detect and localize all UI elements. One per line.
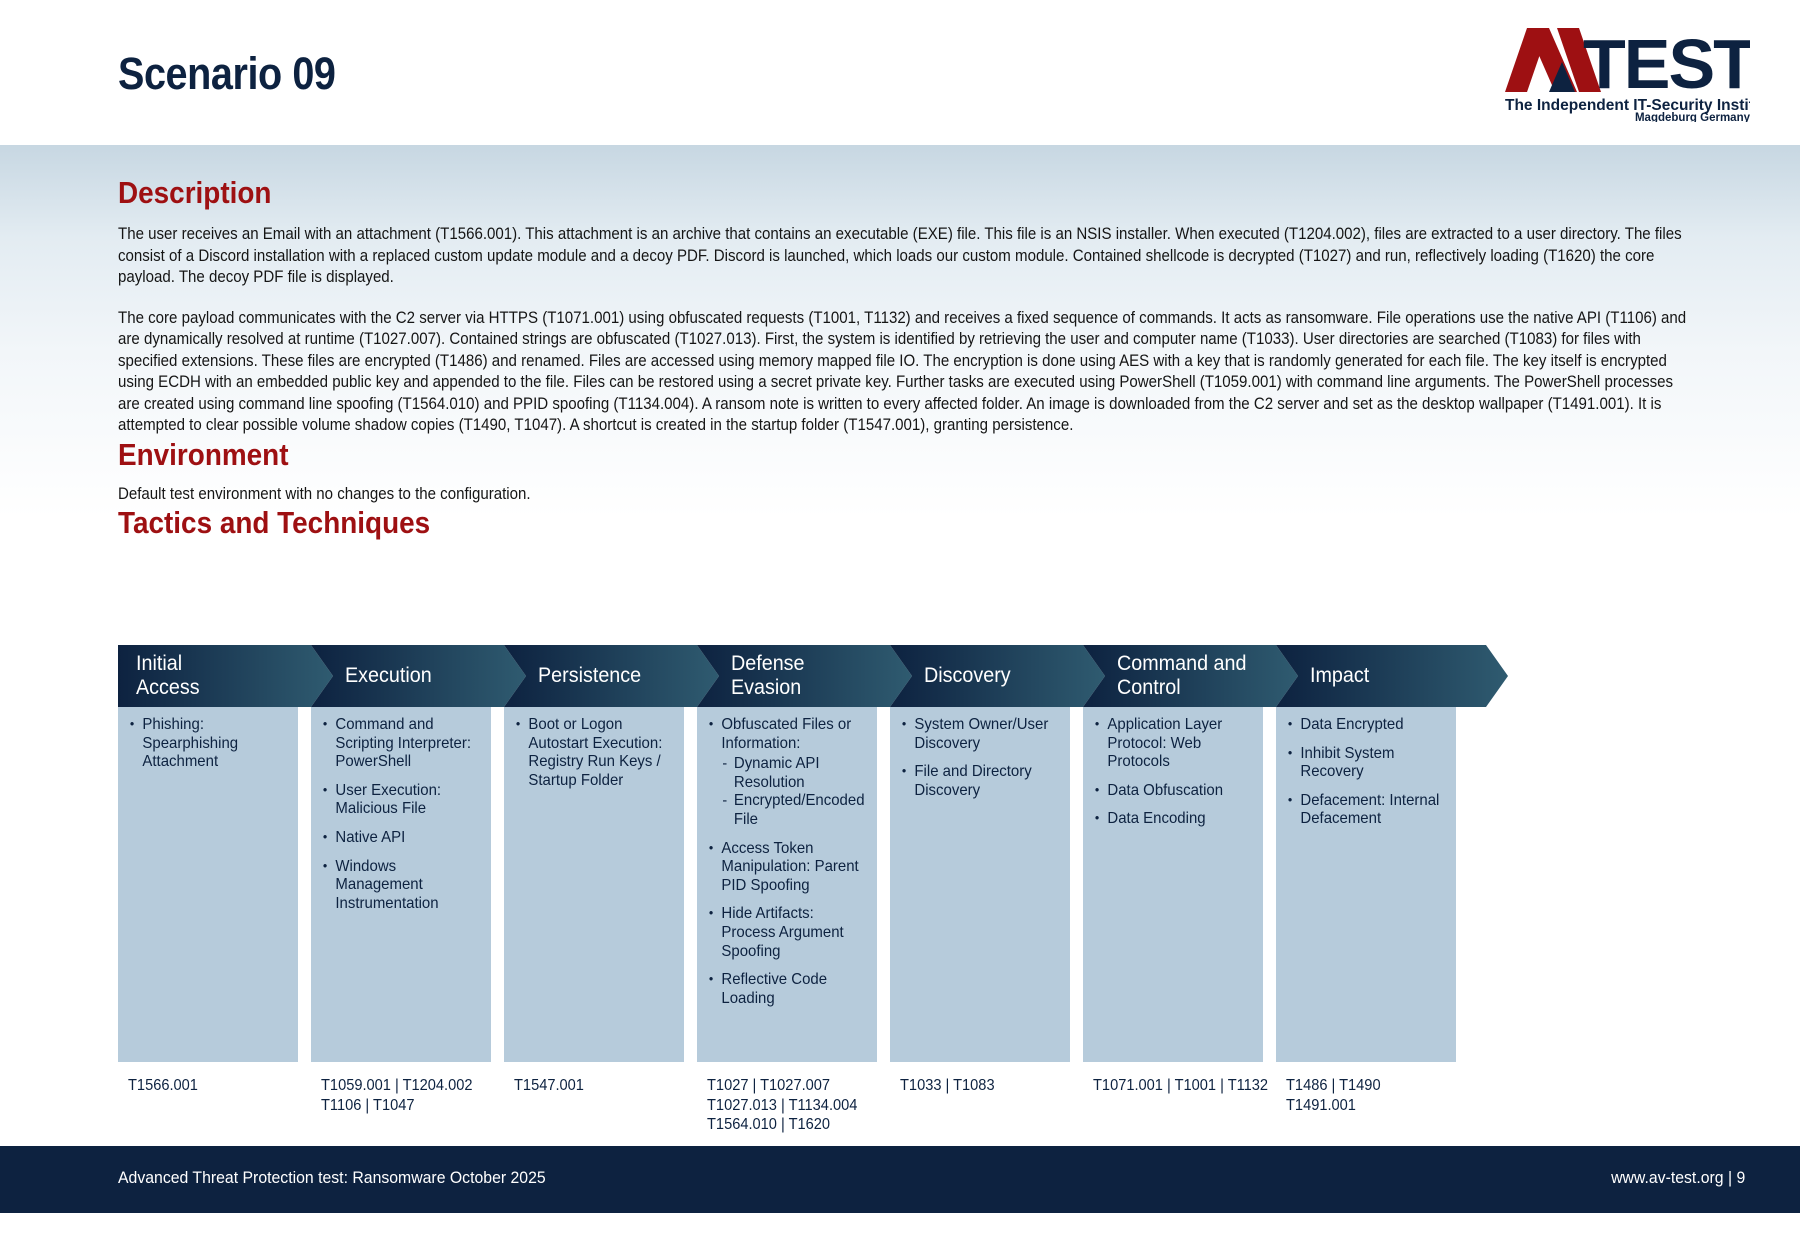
technique-ids-2: T1059.001 | T1204.002T1106 | T1047 [321, 1076, 472, 1115]
footer-bottom-spacer [0, 1213, 1800, 1255]
svg-text:TEST: TEST [1583, 25, 1750, 103]
sub-technique-item: Encrypted/Encoded File [721, 792, 860, 829]
tactic-label-1: InitialAccess [118, 645, 311, 707]
technique-item: Inhibit System Recovery [1286, 745, 1440, 782]
tactics-table: InitialAccessExecutionPersistenceDefense… [118, 645, 1508, 1146]
tactic-label-5: Discovery [906, 645, 1099, 707]
tactics-header-row: InitialAccessExecutionPersistenceDefense… [118, 645, 1508, 707]
technique-list: Application Layer Protocol: Web Protocol… [1093, 716, 1253, 829]
tactic-label-6: Command andControl [1099, 645, 1292, 707]
tactic-column-4: Obfuscated Files or Information:Dynamic … [697, 707, 877, 1062]
technique-item: Command and Scripting Interpreter: Power… [321, 716, 475, 772]
technique-item: Hide Artifacts: Process Argument Spoofin… [707, 905, 861, 961]
technique-item: Defacement: Internal Defacement [1286, 792, 1440, 829]
tactic-label-2: Execution [327, 645, 520, 707]
technique-ids-1: T1566.001 [128, 1076, 198, 1096]
page-title: Scenario 09 [118, 48, 335, 100]
technique-list: System Owner/User DiscoveryFile and Dire… [900, 716, 1060, 800]
logo-location: Magdeburg Germany [1635, 112, 1750, 122]
av-test-logo: TEST The Independent IT-Security Institu… [1505, 22, 1750, 122]
technique-list: Obfuscated Files or Information:Dynamic … [707, 716, 867, 1008]
technique-ids-3: T1547.001 [514, 1076, 584, 1096]
technique-item: Reflective Code Loading [707, 971, 861, 1008]
description-heading: Description [118, 145, 1531, 211]
environment-paragraph: Default test environment with no changes… [118, 484, 1690, 506]
technique-item: User Execution: Malicious File [321, 782, 475, 819]
technique-item: Native API [321, 829, 475, 848]
sub-technique-item: Dynamic API Resolution [721, 755, 860, 792]
footer-test-name: Advanced Threat Protection test: Ransomw… [118, 1168, 546, 1188]
sub-technique-list: Dynamic API ResolutionEncrypted/Encoded … [721, 755, 860, 829]
tactic-column-5: System Owner/User DiscoveryFile and Dire… [890, 707, 1070, 1062]
tactic-label-7: Impact [1292, 645, 1485, 707]
page-content: Description The user receives an Email w… [118, 145, 1688, 541]
tactic-column-3: Boot or Logon Autostart Execution: Regis… [504, 707, 684, 1062]
technique-item: Application Layer Protocol: Web Protocol… [1093, 716, 1247, 772]
tactic-column-6: Application Layer Protocol: Web Protocol… [1083, 707, 1263, 1062]
description-paragraph-1: The user receives an Email with an attac… [118, 224, 1690, 289]
technique-list: Command and Scripting Interpreter: Power… [321, 716, 481, 913]
technique-list: Data EncryptedInhibit System RecoveryDef… [1286, 716, 1446, 829]
page-footer: Advanced Threat Protection test: Ransomw… [0, 1146, 1800, 1213]
technique-item: Phishing: Spearphishing Attachment [128, 716, 282, 772]
technique-ids-6: T1071.001 | T1001 | T1132 [1093, 1076, 1268, 1096]
technique-ids-4: T1027 | T1027.007T1027.013 | T1134.004T1… [707, 1076, 857, 1135]
technique-item: Obfuscated Files or Information:Dynamic … [707, 716, 861, 830]
page-header: Scenario 09 TEST The Independent IT-Secu… [0, 0, 1800, 145]
tactic-label-3: Persistence [520, 645, 713, 707]
tactics-columns: Phishing: Spearphishing AttachmentComman… [118, 707, 1508, 1067]
footer-url-page: www.av-test.org | 9 [1611, 1168, 1745, 1188]
tactic-column-1: Phishing: Spearphishing Attachment [118, 707, 298, 1062]
technique-item: Windows Management Instrumentation [321, 858, 475, 914]
technique-item: Data Encoding [1093, 810, 1247, 829]
technique-ids-5: T1033 | T1083 [900, 1076, 995, 1096]
technique-item: Boot or Logon Autostart Execution: Regis… [514, 716, 668, 790]
test-wordmark: TEST [1583, 25, 1750, 103]
description-paragraph-2: The core payload communicates with the C… [118, 308, 1690, 437]
environment-heading: Environment [118, 437, 1531, 473]
technique-ids-7: T1486 | T1490T1491.001 [1286, 1076, 1381, 1115]
technique-item: Data Encrypted [1286, 716, 1440, 735]
technique-list: Phishing: Spearphishing Attachment [128, 716, 288, 772]
technique-item: File and Directory Discovery [900, 763, 1054, 800]
technique-list: Boot or Logon Autostart Execution: Regis… [514, 716, 674, 790]
tactic-column-2: Command and Scripting Interpreter: Power… [311, 707, 491, 1062]
technique-ids-row: T1566.001T1059.001 | T1204.002T1106 | T1… [118, 1076, 1508, 1146]
technique-item: Access Token Manipulation: Parent PID Sp… [707, 840, 861, 896]
tactic-column-7: Data EncryptedInhibit System RecoveryDef… [1276, 707, 1456, 1062]
tactic-label-4: DefenseEvasion [713, 645, 906, 707]
tactics-techniques-heading: Tactics and Techniques [118, 505, 1531, 541]
technique-item: System Owner/User Discovery [900, 716, 1054, 753]
technique-item: Data Obfuscation [1093, 782, 1247, 801]
